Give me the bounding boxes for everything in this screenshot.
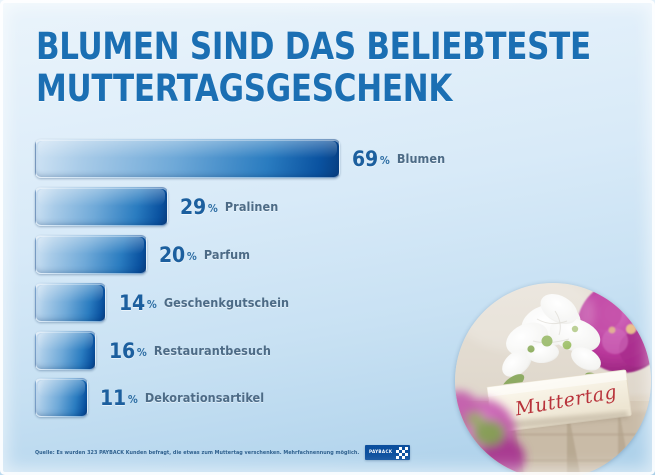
- bar-fill-dekorationsartikel: [35, 378, 88, 417]
- bar-value-pralinen: 29: [180, 195, 206, 219]
- payback-logo: PAYBACK: [365, 445, 410, 460]
- infographic-canvas: BLUMEN SIND DAS BELIEBTESTE MUTTERTAGSGE…: [0, 0, 655, 475]
- percent-symbol: %: [137, 346, 147, 359]
- percent-symbol: %: [380, 154, 390, 167]
- bar-chart: 69 % Blumen 29 % Pralinen 20 % Parfum: [0, 0, 655, 430]
- bar-fill-parfum: [35, 235, 147, 274]
- bar-label-geschenkgutschein: 14 % Geschenkgutschein: [119, 283, 289, 322]
- bar-category-pralinen: Pralinen: [225, 199, 279, 214]
- percent-symbol: %: [128, 393, 138, 406]
- percent-symbol: %: [147, 298, 157, 311]
- bar-label-pralinen: 29 % Pralinen: [180, 187, 278, 226]
- bar-category-geschenkgutschein: Geschenkgutschein: [164, 295, 289, 310]
- bar-fill-geschenkgutschein: [35, 283, 106, 322]
- bar-fill-blumen: [35, 139, 340, 178]
- bar-category-parfum: Parfum: [204, 247, 250, 262]
- source-note: Quelle: Es wurden 323 PAYBACK Kunden bef…: [35, 450, 359, 456]
- bar-fill-pralinen: [35, 187, 168, 226]
- percent-symbol: %: [208, 202, 218, 215]
- bar-value-restaurantbesuch: 16: [109, 339, 135, 363]
- percent-symbol: %: [187, 250, 197, 263]
- bar-category-restaurantbesuch: Restaurantbesuch: [154, 343, 271, 358]
- bar-label-parfum: 20 % Parfum: [159, 235, 250, 274]
- bar-label-dekorationsartikel: 11 % Dekorationsartikel: [100, 378, 264, 417]
- bar-value-parfum: 20: [159, 243, 185, 267]
- bar-category-dekorationsartikel: Dekorationsartikel: [145, 390, 264, 405]
- bar-value-dekorationsartikel: 11: [100, 386, 126, 410]
- payback-checker-icon: [396, 447, 408, 459]
- payback-wordmark: PAYBACK: [369, 450, 396, 455]
- bar-label-restaurantbesuch: 16 % Restaurantbesuch: [109, 331, 271, 370]
- footer: Quelle: Es wurden 323 PAYBACK Kunden bef…: [0, 441, 655, 475]
- bar-value-geschenkgutschein: 14: [119, 291, 145, 315]
- bar-category-blumen: Blumen: [397, 151, 445, 166]
- bar-fill-restaurantbesuch: [35, 331, 96, 370]
- bar-value-blumen: 69: [352, 147, 378, 171]
- bar-label-blumen: 69 % Blumen: [352, 139, 445, 178]
